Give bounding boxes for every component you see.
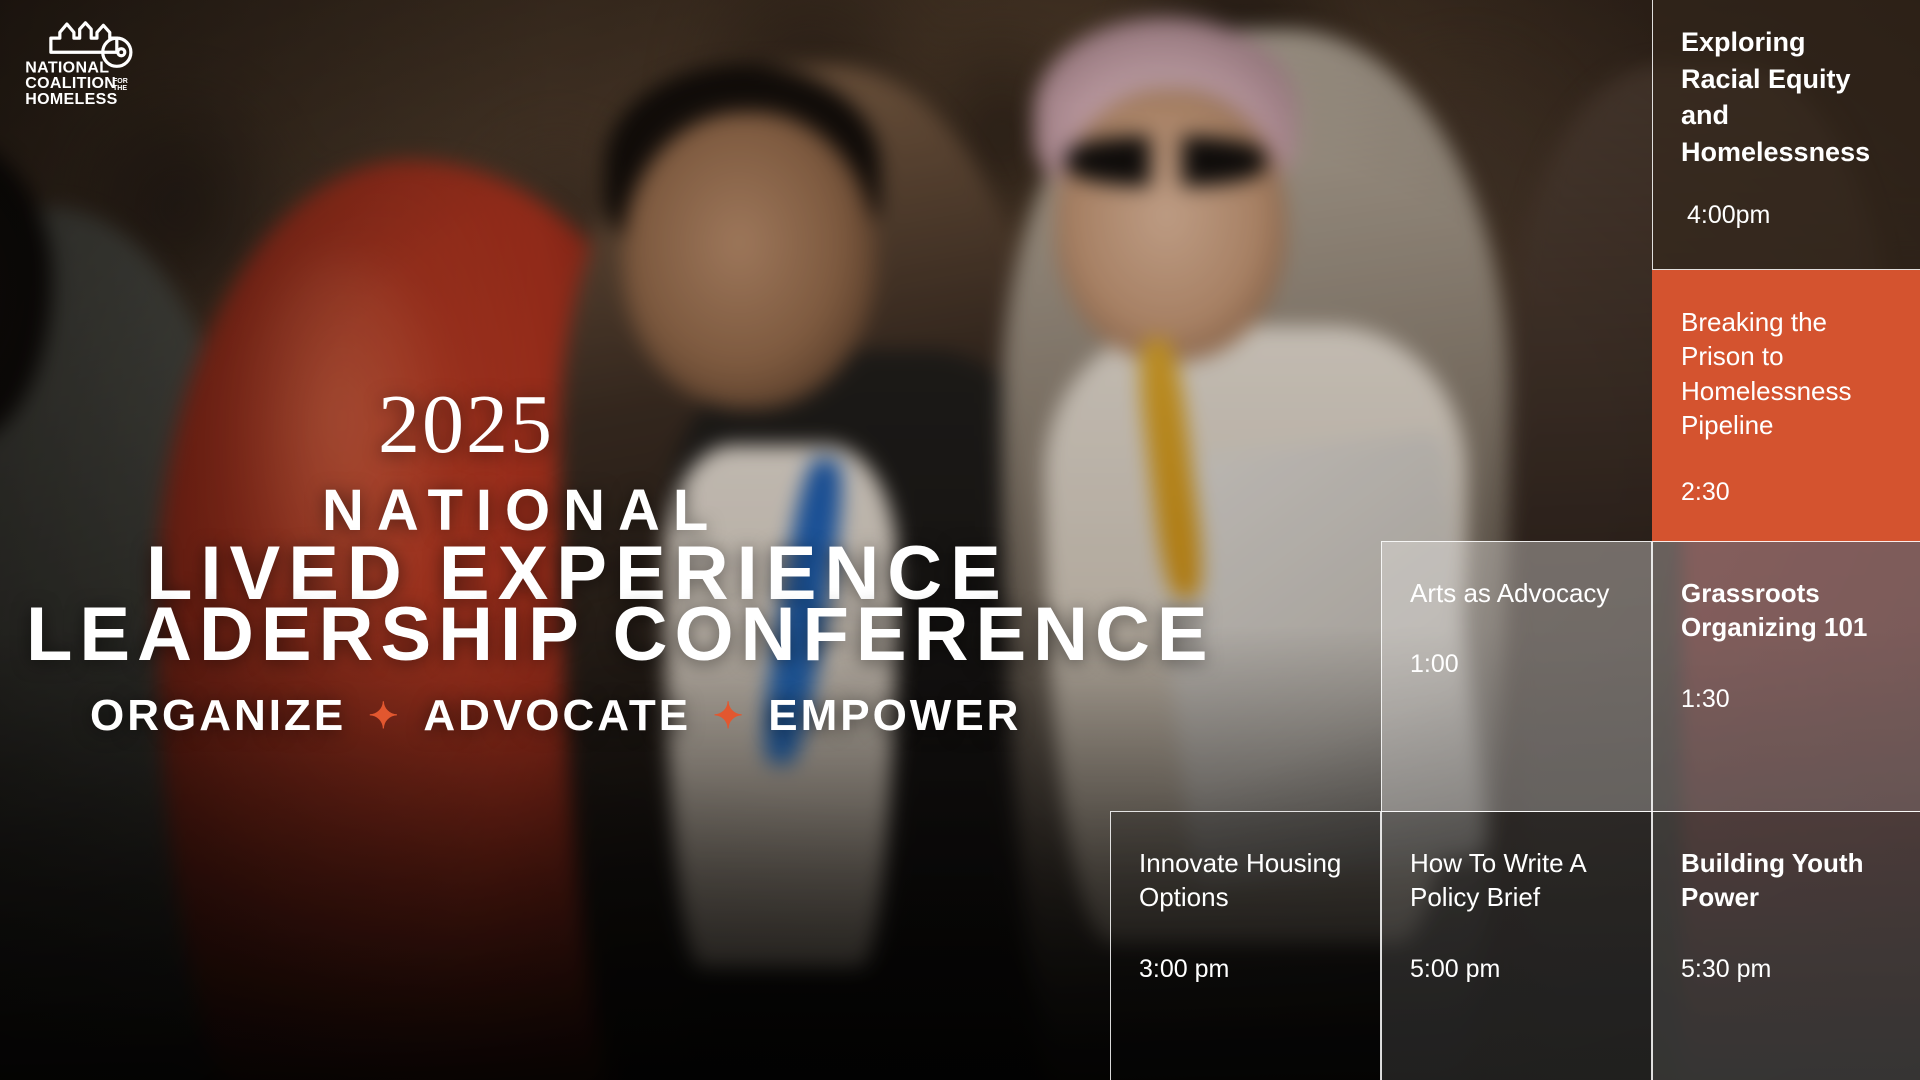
session-title: How To Write A Policy Brief: [1410, 846, 1623, 915]
session-title: Exploring Racial Equity and Homelessness: [1681, 24, 1892, 171]
session-card[interactable]: Arts as Advocacy 1:00: [1381, 541, 1652, 812]
session-card[interactable]: Exploring Racial Equity and Homelessness…: [1652, 0, 1920, 270]
event-tagline: ORGANIZE ✦ ADVOCATE ✦ EMPOWER: [90, 694, 1021, 738]
conference-promo-slide: NATIONAL COALITION FOR THE HOMELESS 2025…: [0, 0, 1920, 1080]
session-time: 1:30: [1681, 683, 1892, 716]
logo-line-coalition: COALITION: [25, 75, 116, 92]
session-card[interactable]: Breaking the Prison to Homelessness Pipe…: [1652, 270, 1920, 542]
logo-line-national: NATIONAL: [25, 60, 109, 77]
session-card[interactable]: Building Youth Power 5:30 pm: [1652, 811, 1920, 1080]
logo-line-for: FOR: [113, 78, 128, 85]
session-time: 5:30 pm: [1681, 953, 1892, 986]
event-year: 2025: [378, 383, 554, 467]
session-title: Grassroots Organizing 101: [1681, 576, 1892, 645]
national-coalition-for-the-homeless-logo: NATIONAL COALITION FOR THE HOMELESS: [24, 10, 152, 106]
session-time: 1:00: [1410, 648, 1623, 681]
key-with-skyline-icon: NATIONAL COALITION FOR THE HOMELESS: [24, 10, 152, 106]
tagline-word-organize: ORGANIZE: [90, 694, 346, 738]
session-title: Building Youth Power: [1681, 846, 1892, 915]
session-title: Innovate Housing Options: [1139, 846, 1352, 915]
tagline-word-empower: EMPOWER: [768, 694, 1021, 738]
session-time: 4:00pm: [1681, 199, 1892, 232]
session-card[interactable]: Grassroots Organizing 101 1:30: [1652, 541, 1920, 812]
tagline-word-advocate: ADVOCATE: [423, 694, 691, 738]
session-time: 3:00 pm: [1139, 953, 1352, 986]
session-card[interactable]: Innovate Housing Options 3:00 pm: [1110, 811, 1381, 1080]
session-title: Breaking the Prison to Homelessness Pipe…: [1681, 305, 1892, 442]
session-time: 5:00 pm: [1410, 953, 1623, 986]
session-card[interactable]: How To Write A Policy Brief 5:00 pm: [1381, 811, 1652, 1080]
session-title: Arts as Advocacy: [1410, 576, 1623, 610]
logo-line-homeless: HOMELESS: [25, 91, 117, 106]
star-separator-icon: ✦: [368, 698, 401, 734]
title-line-leadership-conference: LEADERSHIP CONFERENCE: [26, 597, 1215, 673]
star-separator-icon: ✦: [713, 698, 746, 734]
session-time: 2:30: [1681, 476, 1892, 509]
